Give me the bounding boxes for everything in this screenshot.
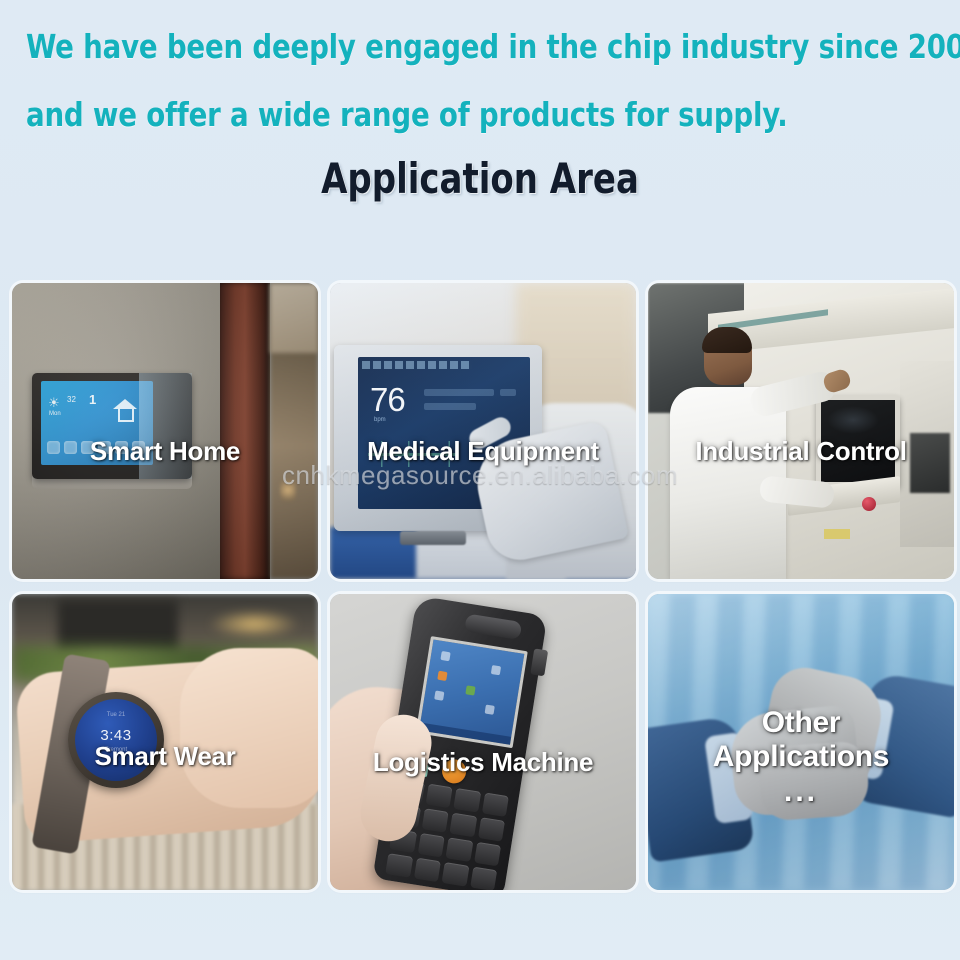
monitor-glow — [827, 406, 879, 434]
desktop-icon — [440, 651, 450, 661]
machine-right-window — [910, 433, 950, 493]
background-window — [58, 600, 178, 652]
watch-time: 3:43 — [75, 727, 157, 744]
terminal-screen — [416, 636, 528, 748]
desktop-icon — [437, 671, 447, 681]
logistics-machine-photo — [330, 594, 636, 890]
watch-date: Tue 21 — [75, 712, 157, 718]
other-applications-photo — [648, 594, 954, 890]
keypad-key — [478, 817, 505, 842]
keypad-key — [445, 837, 472, 862]
photo-tint — [648, 594, 954, 890]
keypad-key — [421, 808, 448, 833]
card-smart-wear[interactable]: Tue 21 3:43 Fremont Smart Wear — [12, 594, 318, 890]
control-monitor — [816, 395, 900, 487]
photo-vignette — [12, 283, 318, 579]
smart-home-photo: ☀ 32 1 Mon — [12, 283, 318, 579]
medical-equipment-photo: 76 bpm — [330, 283, 636, 579]
hand — [180, 648, 318, 808]
card-medical-equipment[interactable]: 76 bpm Medical Equipment — [330, 283, 636, 579]
desktop-icon — [491, 665, 501, 675]
watch-face: Tue 21 3:43 Fremont — [75, 699, 157, 781]
headline-line-2: and we offer a wide range of products fo… — [26, 98, 882, 131]
application-area-banner: We have been deeply engaged in the chip … — [0, 0, 960, 960]
header: We have been deeply engaged in the chip … — [0, 0, 960, 268]
keypad-key — [481, 792, 508, 817]
keypad-key — [449, 813, 476, 838]
card-other-applications[interactable]: Other Applications ... — [648, 594, 954, 890]
watch-location: Fremont — [75, 747, 157, 753]
card-industrial-control[interactable]: Industrial Control — [648, 283, 954, 579]
technician-hair — [702, 327, 752, 353]
scanner-head — [464, 613, 522, 640]
terminal-taskbar — [419, 722, 511, 744]
card-smart-home[interactable]: ☀ 32 1 Mon — [12, 283, 318, 579]
headline-line-1: We have been deeply engaged in the chip … — [26, 30, 882, 63]
keypad-key — [425, 784, 452, 809]
keypad-key — [442, 862, 469, 887]
keypad-key — [417, 833, 444, 858]
keypad-key — [474, 842, 501, 867]
desktop-icon — [434, 690, 444, 700]
yellow-marker — [824, 529, 850, 539]
keypad-key — [470, 866, 497, 890]
industrial-control-photo — [648, 283, 954, 579]
smart-wear-photo: Tue 21 3:43 Fremont — [12, 594, 318, 890]
card-logistics-machine[interactable]: Logistics Machine — [330, 594, 636, 890]
photo-tint — [330, 283, 636, 579]
smartwatch: Tue 21 3:43 Fremont — [68, 692, 164, 788]
scan-button — [440, 758, 467, 785]
page-title: Application Area — [48, 158, 912, 200]
keypad-key — [453, 788, 480, 813]
background-lights — [208, 610, 300, 638]
desktop-icon — [465, 685, 475, 695]
emergency-stop-button — [862, 497, 876, 511]
application-grid: ☀ 32 1 Mon — [12, 283, 948, 890]
keypad-key — [413, 858, 440, 883]
keypad-key — [385, 853, 412, 878]
desktop-icon — [485, 705, 495, 715]
